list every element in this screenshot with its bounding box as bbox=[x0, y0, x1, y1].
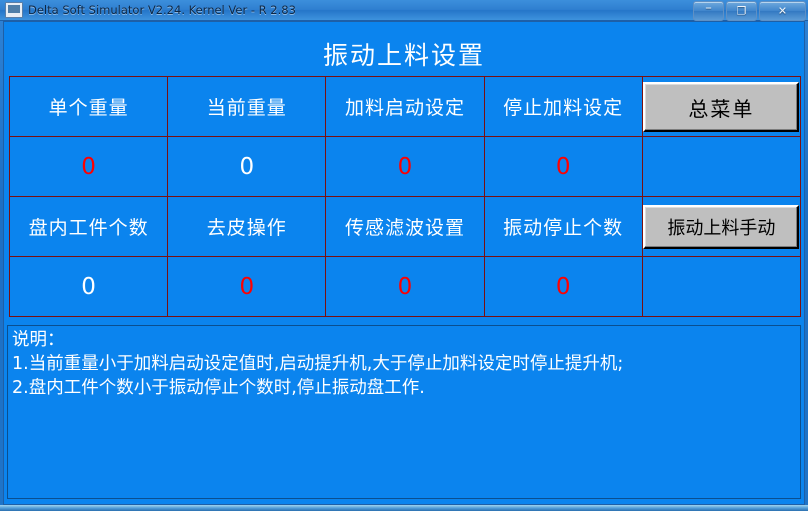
label-tare-operation: 去皮操作 bbox=[207, 217, 287, 239]
settings-grid: 单个重量 当前重量 加料启动设定 停止加料设定 总菜单 0 bbox=[9, 76, 801, 317]
window-bottom-frame bbox=[0, 505, 808, 511]
label-feed-start-setting: 加料启动设定 bbox=[345, 97, 465, 119]
cell-value-tare-operation[interactable]: 0 bbox=[168, 257, 326, 317]
notes-heading: 说明： bbox=[12, 328, 796, 352]
notes-line-2: 2.盘内工件个数小于振动停止个数时,停止振动盘工作. bbox=[12, 376, 796, 400]
value-sensor-filter-setting: 0 bbox=[398, 274, 413, 300]
window-controls: – ❐ ✕ bbox=[693, 1, 806, 21]
maximize-icon: ❐ bbox=[737, 6, 747, 17]
window-title: Delta Soft Simulator V2.24. Kernel Ver -… bbox=[28, 3, 296, 17]
label-vibration-stop-count: 振动停止个数 bbox=[503, 217, 623, 239]
maximize-button[interactable]: ❐ bbox=[726, 1, 757, 21]
label-current-weight: 当前重量 bbox=[207, 97, 287, 119]
minimize-button[interactable]: – bbox=[693, 1, 724, 21]
cell-value-vibration-stop-count[interactable]: 0 bbox=[484, 257, 642, 317]
grid-row-values-1: 0 0 0 0 bbox=[10, 137, 801, 197]
cell-label-feed-start-setting: 加料启动设定 bbox=[326, 77, 484, 137]
label-sensor-filter-setting: 传感滤波设置 bbox=[345, 217, 465, 239]
cell-label-tare-operation: 去皮操作 bbox=[168, 197, 326, 257]
cell-value-feed-stop-setting[interactable]: 0 bbox=[484, 137, 642, 197]
cell-label-parts-count: 盘内工件个数 bbox=[10, 197, 168, 257]
value-current-weight: 0 bbox=[239, 154, 254, 180]
cell-value-single-weight[interactable]: 0 bbox=[10, 137, 168, 197]
vibration-manual-button[interactable]: 振动上料手动 bbox=[643, 205, 799, 249]
cell-label-single-weight: 单个重量 bbox=[10, 77, 168, 137]
value-feed-stop-setting: 0 bbox=[556, 154, 571, 180]
grid-row-labels-1: 单个重量 当前重量 加料启动设定 停止加料设定 总菜单 bbox=[10, 77, 801, 137]
notes-panel: 说明： 1.当前重量小于加料启动设定值时,启动提升机,大于停止加料设定时停止提升… bbox=[7, 325, 801, 499]
cell-value-sensor-filter-setting[interactable]: 0 bbox=[326, 257, 484, 317]
cell-label-feed-stop-setting: 停止加料设定 bbox=[484, 77, 642, 137]
window-titlebar: Delta Soft Simulator V2.24. Kernel Ver -… bbox=[0, 0, 808, 21]
close-button[interactable]: ✕ bbox=[759, 1, 806, 21]
cell-value-feed-start-setting[interactable]: 0 bbox=[326, 137, 484, 197]
page-title: 振动上料设置 bbox=[4, 36, 804, 72]
value-feed-start-setting: 0 bbox=[398, 154, 413, 180]
label-parts-count: 盘内工件个数 bbox=[29, 217, 149, 239]
cell-main-menu-button: 总菜单 bbox=[642, 77, 800, 137]
cell-label-sensor-filter-setting: 传感滤波设置 bbox=[326, 197, 484, 257]
cell-label-vibration-stop-count: 振动停止个数 bbox=[484, 197, 642, 257]
value-parts-count: 0 bbox=[81, 274, 96, 300]
main-menu-button[interactable]: 总菜单 bbox=[643, 82, 799, 132]
value-tare-operation: 0 bbox=[239, 274, 254, 300]
cell-vibration-manual-button: 振动上料手动 bbox=[642, 197, 800, 257]
cell-value-parts-count[interactable]: 0 bbox=[10, 257, 168, 317]
application-window: Delta Soft Simulator V2.24. Kernel Ver -… bbox=[0, 0, 808, 511]
app-window-icon bbox=[5, 2, 23, 18]
cell-empty-right-1 bbox=[642, 137, 800, 197]
grid-row-labels-2: 盘内工件个数 去皮操作 传感滤波设置 振动停止个数 振动上料手动 bbox=[10, 197, 801, 257]
cell-value-current-weight[interactable]: 0 bbox=[168, 137, 326, 197]
value-vibration-stop-count: 0 bbox=[556, 274, 571, 300]
label-feed-stop-setting: 停止加料设定 bbox=[503, 97, 623, 119]
label-single-weight: 单个重量 bbox=[49, 97, 129, 119]
cell-label-current-weight: 当前重量 bbox=[168, 77, 326, 137]
client-area: 振动上料设置 单个重量 当前重量 加料启动设定 停止加料设定 总菜单 bbox=[3, 21, 805, 505]
cell-empty-right-2 bbox=[642, 257, 800, 317]
close-icon: ✕ bbox=[778, 6, 787, 17]
minimize-icon: – bbox=[705, 2, 712, 15]
notes-line-1: 1.当前重量小于加料启动设定值时,启动提升机,大于停止加料设定时停止提升机; bbox=[12, 352, 796, 376]
value-single-weight: 0 bbox=[81, 154, 96, 180]
grid-row-values-2: 0 0 0 0 bbox=[10, 257, 801, 317]
